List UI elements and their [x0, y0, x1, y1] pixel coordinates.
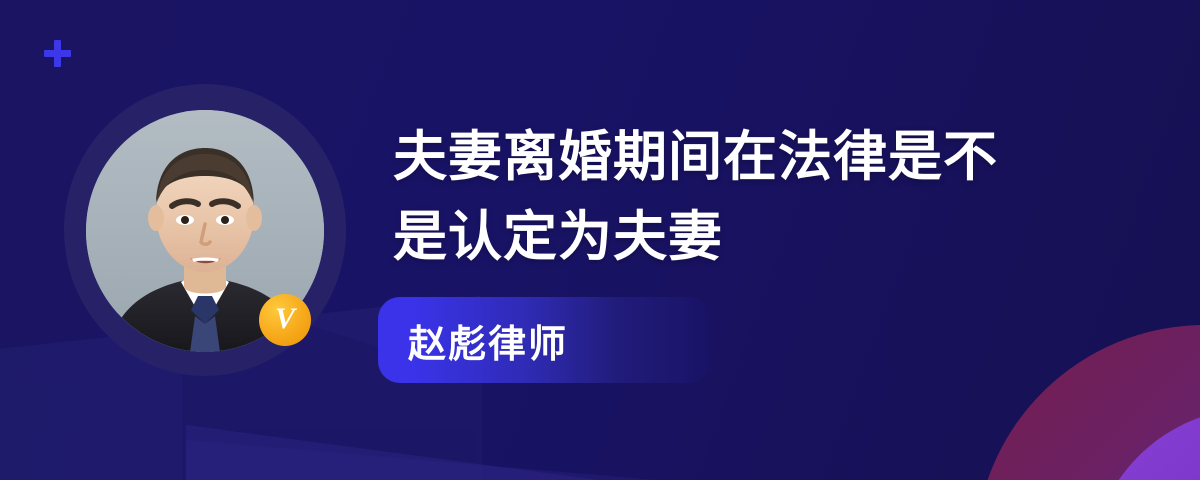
plus-icon — [44, 40, 71, 67]
avatar: V — [64, 84, 346, 376]
lawyer-name-button[interactable]: 赵彪律师 — [378, 297, 710, 383]
page-title: 夫妻离婚期间在法律是不 是认定为夫妻 — [393, 118, 1173, 278]
verified-badge-label: V — [275, 304, 295, 334]
lawyer-promo-banner: V 夫妻离婚期间在法律是不 是认定为夫妻 赵彪律师 — [0, 0, 1200, 480]
content-block: 夫妻离婚期间在法律是不 是认定为夫妻 赵彪律师 — [393, 118, 1173, 278]
verified-badge: V — [259, 294, 311, 346]
